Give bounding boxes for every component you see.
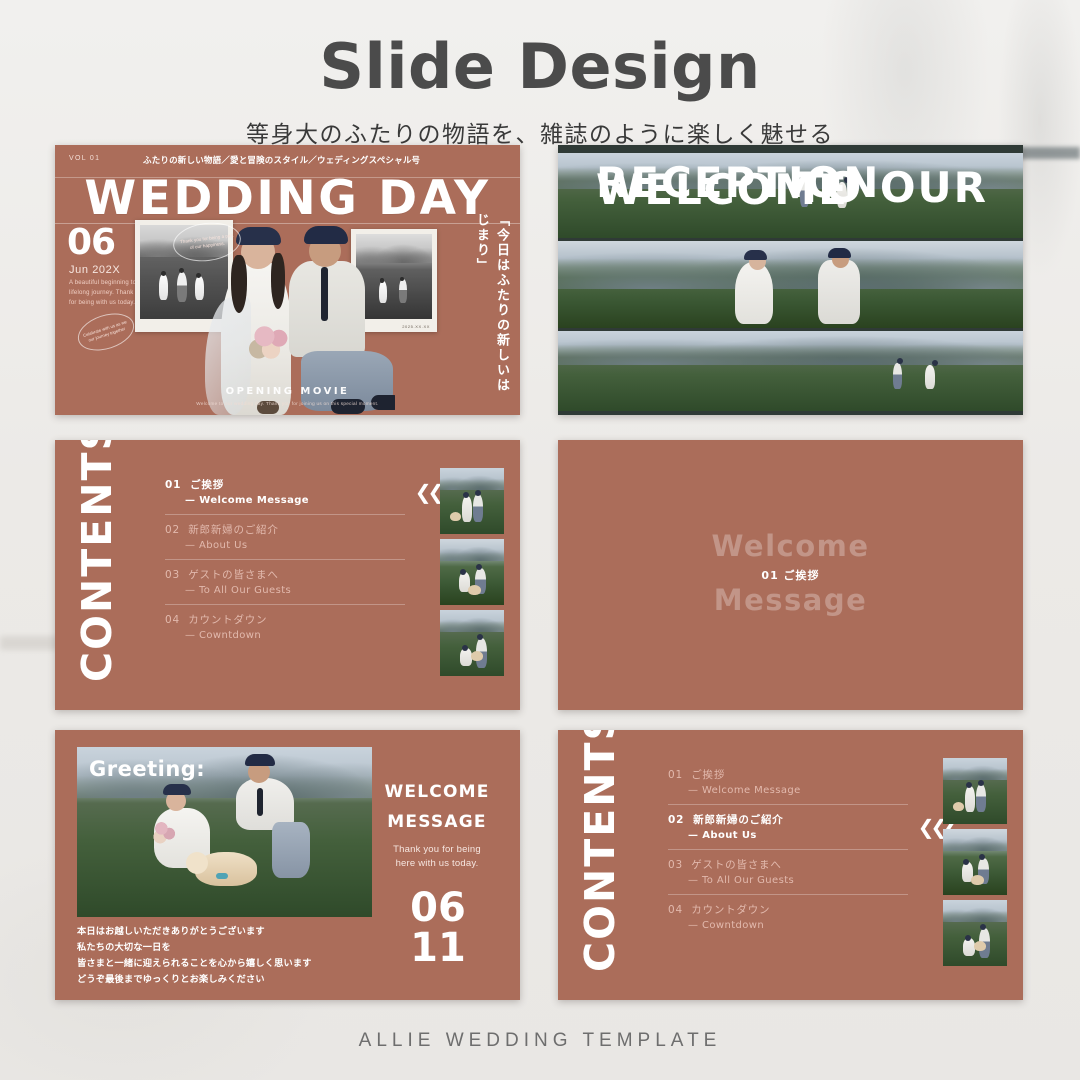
- contents-item-jp: 新郎新婦のご紹介: [693, 814, 783, 826]
- header: Slide Design 等身大のふたりの物語を、雑誌のように楽しく魅せる: [0, 0, 1080, 149]
- greeting-title-line-1: WELCOME: [372, 778, 502, 808]
- greeting-japanese-text: 本日はお越しいただきありがとうございます 私たちの大切な一日を 皆さまと一緒に迎…: [77, 924, 377, 988]
- greeting-jp-line-2: 私たちの大切な一日を: [77, 940, 377, 956]
- cover-vertical-quote: 「今日はふたりの新しいはじまり」: [471, 213, 511, 403]
- greeting-title: WELCOME MESSAGE: [372, 778, 502, 838]
- greeting-jp-line-4: どうぞ最後までゆっくりとお楽しみください: [77, 972, 377, 988]
- contents-item-en: — About Us: [165, 540, 405, 551]
- contents-item[interactable]: 02 新郎新婦のご紹介 — About Us ❮❮❮: [668, 805, 908, 850]
- footer-brand: ALLIE WEDDING TEMPLATE: [0, 1030, 1080, 1052]
- reception-photo-band-2: [558, 241, 1023, 328]
- contents-thumbnails: [440, 468, 504, 681]
- contents-heading: CONTENTS: [77, 468, 118, 682]
- greeting-photo-label: Greeting:: [89, 757, 205, 781]
- contents-item-en: — Cowntdown: [165, 630, 405, 641]
- cover-opening-subtitle: Welcome to our wedding day. Thank you fo…: [55, 401, 520, 406]
- cover-volume: VOL 01: [69, 155, 100, 162]
- contents-item-number: 01: [165, 479, 181, 491]
- cover-day: 06: [67, 225, 115, 261]
- contents-item-en: — Welcome Message: [165, 495, 405, 506]
- divider-section-label: 01 ご挨拶: [558, 567, 1023, 583]
- greeting-title-line-2: MESSAGE: [372, 808, 502, 838]
- greeting-jp-line-1: 本日はお越しいただきありがとうございます: [77, 924, 377, 940]
- cover-tagline: ふたりの新しい物語／愛と冒険のスタイル／ウェディングスペシャル号: [143, 154, 420, 166]
- slide-divider-01[interactable]: Welcome 01 ご挨拶 Message: [558, 440, 1023, 710]
- contents-item[interactable]: 04 カウントダウン — Cowntdown: [165, 605, 405, 649]
- contents-item-jp: カウントダウン: [691, 904, 770, 916]
- greeting-date-day: 11: [378, 928, 498, 968]
- background-shadow-strip: [0, 636, 60, 650]
- slide-greeting[interactable]: Greeting: 本日はお越しいただきありがとうございます 私たちの大切な一日…: [55, 730, 520, 1000]
- contents-item-number: 02: [668, 814, 684, 826]
- divider-word-bottom: Message: [558, 586, 1023, 615]
- divider-word-top: Welcome: [558, 532, 1023, 561]
- cover-sticker-left-text: Celebrate with us as we our journey toge…: [74, 308, 137, 356]
- contents-list: 01 ご挨拶 — Welcome Message ❮❮❮ 02 新郎新婦のご紹介…: [165, 470, 405, 649]
- cover-month-year: Jun 202X: [69, 264, 120, 276]
- contents-item-en: — To All Our Guests: [165, 585, 405, 596]
- cover-opening-label: OPENING MOVIE: [55, 386, 520, 397]
- greeting-thanks-line-1: Thank you for being: [372, 843, 502, 857]
- slide-reception[interactable]: WELCOME TO OUR RECEPTION: [558, 145, 1023, 415]
- greeting-thanks: Thank you for being here with us today.: [372, 843, 502, 872]
- contents-item[interactable]: 03 ゲストの皆さまへ — To All Our Guests: [165, 560, 405, 605]
- greeting-thanks-line-2: here with us today.: [372, 857, 502, 871]
- contents-item[interactable]: 03 ゲストの皆さまへ — To All Our Guests: [668, 850, 908, 895]
- page-subtitle: 等身大のふたりの物語を、雑誌のように楽しく魅せる: [0, 115, 1080, 149]
- contents-item[interactable]: 01 ご挨拶 — Welcome Message: [668, 760, 908, 805]
- reception-word-3: RECEPTION: [596, 162, 880, 204]
- contents-heading: CONTENTS: [580, 758, 621, 972]
- contents-item-number: 04: [668, 904, 683, 916]
- slide-cover[interactable]: VOL 01 ふたりの新しい物語／愛と冒険のスタイル／ウェディングスペシャル号 …: [55, 145, 520, 415]
- contents-item-jp: ご挨拶: [691, 769, 725, 781]
- thumbnail-couple-kneeling[interactable]: [943, 900, 1007, 966]
- contents-item-number: 03: [165, 569, 180, 581]
- contents-item-jp: ゲストの皆さまへ: [188, 569, 278, 581]
- contents-item-number: 01: [668, 769, 683, 781]
- contents-item-jp: カウントダウン: [188, 614, 267, 626]
- greeting-date-month: 06: [378, 888, 498, 928]
- contents-item-jp: 新郎新婦のご紹介: [188, 524, 278, 536]
- contents-item-number: 02: [165, 524, 180, 536]
- polaroid-date: 2025.XX.XX: [402, 324, 430, 329]
- greeting-date: 06 11: [378, 888, 498, 968]
- thumbnail-couple-standing[interactable]: [440, 468, 504, 534]
- contents-item-en: — About Us: [668, 830, 908, 841]
- contents-item-en: — Welcome Message: [668, 785, 908, 796]
- contents-item-en: — Cowntdown: [668, 920, 908, 931]
- cover-sticker-left: Celebrate with us as we our journey toge…: [73, 307, 139, 357]
- contents-item-jp: ご挨拶: [190, 479, 224, 491]
- thumbnail-couple-with-dog[interactable]: [440, 539, 504, 605]
- contents-item-en: — To All Our Guests: [668, 875, 908, 886]
- slide-contents-02[interactable]: CONTENTS 01 ご挨拶 — Welcome Message 02 新郎新…: [558, 730, 1023, 1000]
- thumbnail-couple-kneeling[interactable]: [440, 610, 504, 676]
- page-root: Slide Design 等身大のふたりの物語を、雑誌のように楽しく魅せる VO…: [0, 0, 1080, 1080]
- contents-thumbnails: [943, 758, 1007, 971]
- slide-contents-01[interactable]: CONTENTS 01 ご挨拶 — Welcome Message ❮❮❮ 02…: [55, 440, 520, 710]
- contents-item[interactable]: 02 新郎新婦のご紹介 — About Us: [165, 515, 405, 560]
- reception-photo-band-3: [558, 331, 1023, 411]
- contents-item-number: 04: [165, 614, 180, 626]
- contents-item[interactable]: 04 カウントダウン — Cowntdown: [668, 895, 908, 939]
- contents-item-jp: ゲストの皆さまへ: [691, 859, 781, 871]
- greeting-jp-line-3: 皆さまと一緒に迎えられることを心から嬉しく思います: [77, 956, 377, 972]
- page-title: Slide Design: [0, 30, 1080, 103]
- contents-item[interactable]: 01 ご挨拶 — Welcome Message ❮❮❮: [165, 470, 405, 515]
- contents-list: 01 ご挨拶 — Welcome Message 02 新郎新婦のご紹介 — A…: [668, 760, 908, 939]
- contents-item-number: 03: [668, 859, 683, 871]
- thumbnail-couple-standing[interactable]: [943, 758, 1007, 824]
- thumbnail-couple-with-dog[interactable]: [943, 829, 1007, 895]
